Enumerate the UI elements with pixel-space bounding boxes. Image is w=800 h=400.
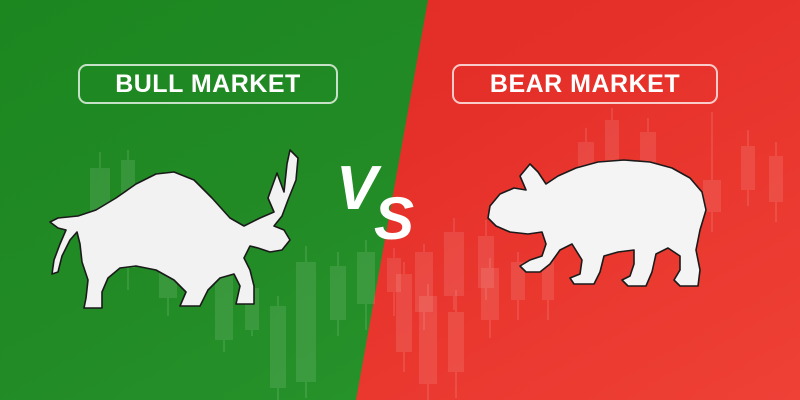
versus-mark: V S xyxy=(336,158,432,258)
bull-market-label: BULL MARKET xyxy=(115,72,301,97)
bear-silhouette-icon xyxy=(484,150,716,300)
bull-market-badge[interactable]: BULL MARKET xyxy=(78,64,338,104)
versus-letter-s: S xyxy=(374,189,414,249)
bear-market-label: BEAR MARKET xyxy=(490,72,680,97)
bull-vs-bear-banner: BULL MARKET BEAR MARKET V S xyxy=(0,0,800,400)
bull-silhouette-icon xyxy=(44,140,336,312)
versus-letter-v: V xyxy=(336,158,377,220)
bear-market-badge[interactable]: BEAR MARKET xyxy=(452,64,718,104)
